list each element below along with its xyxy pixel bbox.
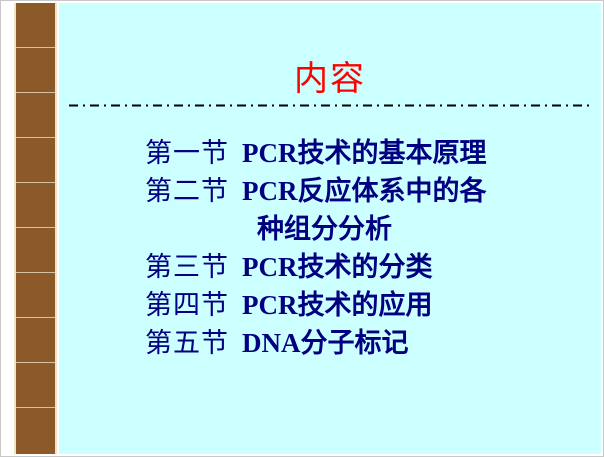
band-seam xyxy=(16,227,55,228)
band-seam xyxy=(16,92,55,93)
band-seam xyxy=(16,362,55,363)
section-number: 第二节 xyxy=(145,169,229,208)
list-item[interactable]: 第二节 PCR反应体系中的各 xyxy=(59,169,601,207)
list-item-continuation: 种组分分析 xyxy=(59,207,601,245)
slide: 内容 第一节 PCR技术的基本原理 第二节 PCR反应体系中的各 种组分分析 第… xyxy=(0,0,604,457)
section-title: PCR技术的分类 xyxy=(242,245,433,284)
section-title: PCR反应体系中的各 xyxy=(242,169,487,208)
section-title: DNA分子标记 xyxy=(242,321,409,360)
section-number: 第三节 xyxy=(145,245,229,284)
section-number: 第五节 xyxy=(145,321,229,360)
section-title: PCR技术的应用 xyxy=(242,283,433,322)
list-item[interactable]: 第一节 PCR技术的基本原理 xyxy=(59,131,601,169)
band-seam xyxy=(16,317,55,318)
band-seam xyxy=(16,407,55,408)
band-seam xyxy=(16,272,55,273)
list-item[interactable]: 第四节 PCR技术的应用 xyxy=(59,283,601,321)
band-seam xyxy=(16,182,55,183)
section-title-continued: 种组分分析 xyxy=(257,207,392,246)
list-item[interactable]: 第五节 DNA分子标记 xyxy=(59,321,601,359)
title-divider xyxy=(69,104,591,107)
table-of-contents: 第一节 PCR技术的基本原理 第二节 PCR反应体系中的各 种组分分析 第三节 … xyxy=(59,131,601,359)
section-number: 第四节 xyxy=(145,283,229,322)
decorative-side-band xyxy=(14,3,57,454)
band-seam xyxy=(16,47,55,48)
section-title: PCR技术的基本原理 xyxy=(242,131,487,170)
band-seam xyxy=(16,137,55,138)
slide-content-panel: 内容 第一节 PCR技术的基本原理 第二节 PCR反应体系中的各 种组分分析 第… xyxy=(59,3,601,454)
section-number: 第一节 xyxy=(145,131,229,170)
list-item[interactable]: 第三节 PCR技术的分类 xyxy=(59,245,601,283)
slide-title: 内容 xyxy=(59,51,601,100)
